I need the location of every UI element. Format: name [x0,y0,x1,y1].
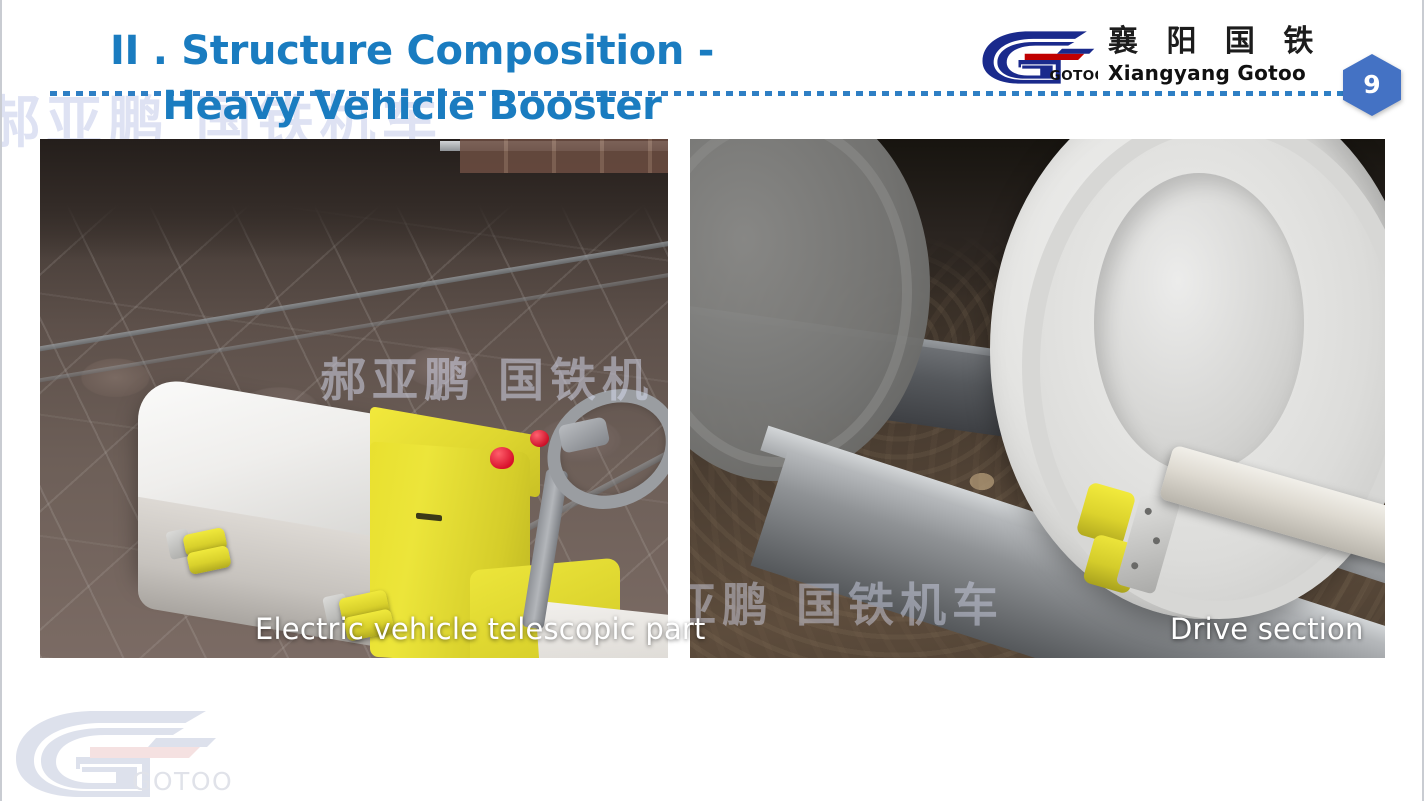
emergency-stop-button [490,447,514,469]
caption-drive-section: Drive section [1170,612,1364,646]
page-number-badge: 9 [1343,54,1401,116]
right-scene: 亚鹏 国铁机车 [690,139,1385,658]
gotoo-logo-icon: GOTOO [980,26,1098,84]
brick-wall [460,139,668,173]
left-scene: 郝亚鹏 国铁机 [40,139,668,658]
bracket-bolt-hole-2 [1152,536,1161,545]
hexagon-shape: 9 [1343,54,1401,116]
footer-gotoo-logo-icon: GOTOO [10,705,240,797]
front-train-wheel-hub [1094,173,1304,473]
bracket-bolt-hole-1 [1144,507,1153,516]
svg-text:GOTOO: GOTOO [1050,68,1098,84]
header-logo: GOTOO 襄 阳 国 铁 Xiangyang Gotoo [980,24,1300,86]
figure-electric-vehicle-telescopic-part: 郝亚鹏 国铁机 [40,139,668,658]
caption-electric-vehicle-telescopic-part: Electric vehicle telescopic part [255,612,706,646]
page-title-line-2: Heavy Vehicle Booster [62,79,762,134]
svg-text:GOTOO: GOTOO [132,767,233,796]
company-name-pinyin: Xiangyang Gotoo [1108,61,1322,85]
page-number-text: 9 [1343,54,1401,116]
header-logo-text: 襄 阳 国 铁 Xiangyang Gotoo [1108,26,1322,85]
page-title: II . Structure Composition - Heavy Vehic… [62,24,762,134]
slide-canvas: 郝亚鹏 国铁机车 II . Structure Composition - He… [0,0,1424,801]
figure-drive-section: 亚鹏 国铁机车 [690,139,1385,658]
company-name-chinese: 襄 阳 国 铁 [1108,26,1322,58]
page-title-line-1: II . Structure Composition - [62,24,762,79]
control-button-red [530,430,549,447]
bracket-bolt-hole-3 [1130,561,1139,570]
